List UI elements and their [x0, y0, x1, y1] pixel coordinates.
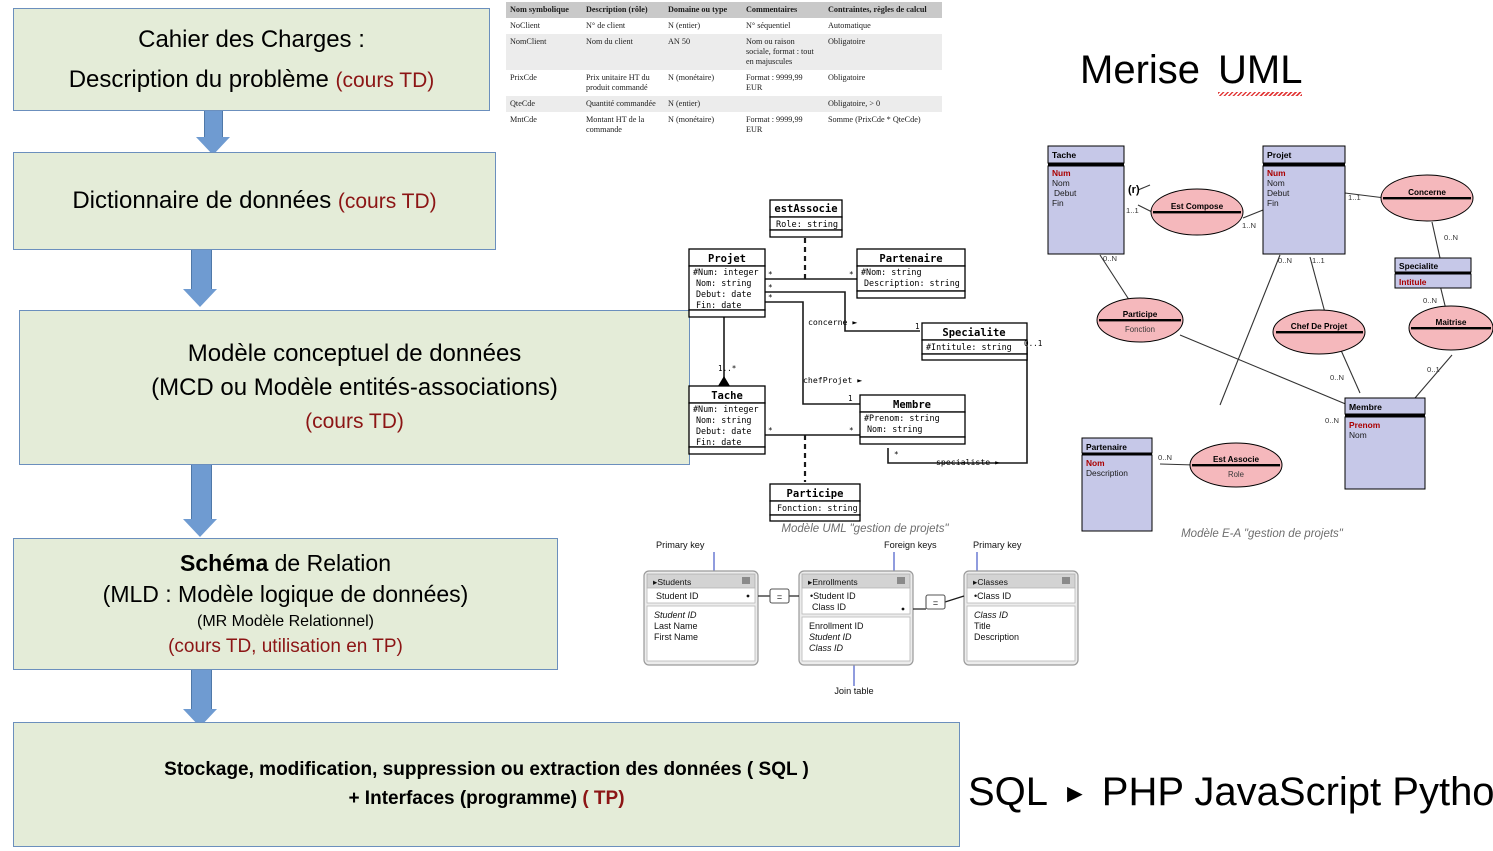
svg-text:Enrollment ID: Enrollment ID	[809, 621, 864, 631]
flow-step-line: Stockage, modification, suppression ou e…	[164, 758, 809, 782]
flow-step-line: + Interfaces (programme) ( TP)	[348, 787, 624, 811]
cell: N (monétaire)	[664, 70, 742, 96]
svg-text:Chef De Projet: Chef De Projet	[1291, 322, 1348, 331]
svg-text:Student ID: Student ID	[809, 632, 852, 642]
flow-text-accent: (cours TD)	[305, 410, 404, 433]
flow-step-schema-relation[interactable]: Schéma de Relation (MLD : Modèle logique…	[13, 538, 558, 670]
svg-text:Debut: date: Debut: date	[696, 426, 751, 436]
svg-text:estAssocie: estAssocie	[774, 203, 837, 215]
mld-table-students: ▸Students Student ID Student ID Last Nam…	[644, 571, 758, 665]
flow-step-mcd[interactable]: Modèle conceptuel de données (MCD ou Mod…	[19, 310, 690, 465]
svg-text:Title: Title	[974, 621, 991, 631]
svg-text:specialiste ►: specialiste ►	[936, 457, 1000, 467]
svg-text:=: =	[933, 598, 938, 608]
flow-step-line: Cahier des Charges :	[138, 25, 365, 55]
flow-step-line: (MLD : Modèle logique de données)	[103, 580, 469, 609]
ea-relation-maitrise: Maitrise	[1409, 306, 1493, 350]
cell: QteCde	[506, 96, 582, 112]
svg-text:#Intitule: string: #Intitule: string	[926, 342, 1012, 352]
uml-label: UML	[1218, 48, 1302, 92]
cell: Montant HT de la commande	[582, 112, 664, 138]
uml-class-participe: Participe Fonction: string	[770, 484, 860, 521]
cell: AN 50	[664, 34, 742, 70]
flow-step-line: Description du problème (cours TD)	[69, 65, 435, 95]
uml-class-projet: Projet #Num: integer Nom: string Debut: …	[689, 249, 765, 317]
cell: N (entier)	[664, 96, 742, 112]
mld-relational-diagram: Primary key Foreign keys Primary key Joi…	[636, 535, 1096, 695]
merise-uml-title: MeriseUML	[1080, 48, 1302, 93]
svg-text:Debut: Debut	[1267, 188, 1290, 198]
column-header: Domaine ou type	[664, 2, 742, 18]
cell: PrixCde	[506, 70, 582, 96]
svg-text:Est Compose: Est Compose	[1171, 202, 1224, 211]
sql-stack-title: SQL ► PHP JavaScript Python	[968, 770, 1493, 815]
svg-text:Partenaire: Partenaire	[879, 253, 942, 265]
svg-text:Class ID: Class ID	[974, 610, 1009, 620]
cell: Quantité commandée	[582, 96, 664, 112]
svg-text:Debut: date: Debut: date	[696, 289, 751, 299]
svg-text:0..N: 0..N	[1423, 296, 1437, 305]
mld-table-enrollments: ▸Enrollments •Student ID Class ID Enroll…	[799, 571, 913, 665]
svg-text:1: 1	[848, 394, 853, 403]
svg-text:Fin: Fin	[1267, 198, 1279, 208]
svg-text:Fin: date: Fin: date	[696, 300, 741, 310]
svg-text:•Class ID: •Class ID	[974, 591, 1012, 601]
svg-text:Maitrise: Maitrise	[1436, 318, 1467, 327]
svg-text:Participe: Participe	[1123, 310, 1158, 319]
flow-arrow-2	[180, 250, 222, 310]
uml-class-partenaire: Partenaire #Nom: string Description: str…	[857, 249, 965, 298]
flow-step-line: (cours TD, utilisation en TP)	[168, 635, 403, 659]
svg-text:*: *	[849, 270, 854, 279]
svg-text:Description: Description	[1086, 468, 1128, 478]
table-row: NomClient Nom du client AN 50 Nom ou rai…	[506, 34, 942, 70]
cell: NomClient	[506, 34, 582, 70]
svg-text:0..1: 0..1	[1427, 365, 1440, 374]
svg-text:#Nom: string: #Nom: string	[861, 267, 922, 277]
flow-step-line: (MR Modèle Relationnel)	[197, 612, 374, 632]
table-header-row: Nom symbolique Description (rôle) Domain…	[506, 2, 942, 18]
svg-text:*: *	[768, 426, 773, 435]
svg-text:1..1: 1..1	[1348, 193, 1361, 202]
column-header: Commentaires	[742, 2, 824, 18]
svg-text:*: *	[768, 270, 773, 279]
svg-text:0..N: 0..N	[1158, 453, 1172, 462]
uml-class-membre: Membre #Prenom: string Nom: string	[860, 395, 965, 444]
flow-step-line: Modèle conceptuel de données	[188, 339, 522, 369]
cell: Somme (PrixCde * QteCde)	[824, 112, 942, 138]
cell: Format : 9999,99 EUR	[742, 112, 824, 138]
svg-text:Prenom: Prenom	[1349, 420, 1380, 430]
mld-annotation-foreign-keys: Foreign keys	[884, 540, 937, 550]
mld-annotation-primary-key-right: Primary key	[973, 540, 1022, 550]
flow-step-line: Schéma de Relation	[180, 549, 391, 578]
svg-text:Student ID: Student ID	[654, 610, 697, 620]
flow-step-dictionnaire-donnees[interactable]: Dictionnaire de données (cours TD)	[13, 152, 496, 250]
flow-text: de Relation	[268, 550, 391, 576]
svg-text:#Prenom: string: #Prenom: string	[864, 413, 940, 423]
ea-relation-est-compose: Est Compose	[1151, 189, 1243, 235]
flow-arrow-4	[180, 670, 222, 728]
svg-text:Description: Description	[974, 632, 1019, 642]
mld-join-marker-right: =	[926, 595, 945, 609]
svg-text:Fonction: string: Fonction: string	[777, 503, 858, 513]
cell: Obligatoire	[824, 34, 942, 70]
svg-text:1..*: 1..*	[718, 364, 736, 373]
svg-text:▸Classes: ▸Classes	[973, 577, 1008, 587]
flow-text-strong: Stockage, modification, suppression ou e…	[164, 759, 809, 780]
cell: Automatique	[824, 18, 942, 34]
flow-text: (MCD ou Modèle entités-associations)	[151, 374, 558, 401]
ea-relation-concerne: Concerne	[1381, 175, 1473, 221]
flow-text: Description du problème	[69, 66, 336, 93]
svg-text:Nom: string: Nom: string	[696, 415, 751, 425]
ea-entity-tache: Tache Num Nom Debut Fin	[1048, 146, 1124, 254]
svg-text:Role: string: Role: string	[776, 220, 838, 230]
svg-text:Tache: Tache	[1052, 150, 1076, 160]
ea-merise-diagram: Tache Num Nom Debut Fin (r) 1..1 0..N Es…	[1040, 140, 1493, 545]
uml-class-tache: Tache #Num: integer Nom: string Debut: d…	[689, 386, 765, 454]
ea-relation-est-associe: Est Associe Role	[1190, 443, 1282, 487]
column-header: Nom symbolique	[506, 2, 582, 18]
svg-text:•Student ID: •Student ID	[810, 591, 856, 601]
svg-text:*: *	[894, 450, 899, 459]
flow-step-line: (cours TD)	[305, 409, 404, 435]
flow-step-line: Dictionnaire de données (cours TD)	[72, 186, 436, 216]
uml-caption: Modèle UML "gestion de projets"	[781, 523, 949, 535]
sql-label: SQL	[968, 770, 1048, 815]
table-row: MntCde Montant HT de la commande N (moné…	[506, 112, 942, 138]
svg-text:1: 1	[915, 322, 920, 331]
ea-relation-chef-de-projet: Chef De Projet	[1273, 310, 1365, 354]
flow-text-accent: (cours TD)	[336, 69, 435, 92]
flow-text-accent: ( TP)	[582, 788, 624, 809]
ea-relation-participe: Participe Fonction	[1097, 298, 1183, 342]
ea-entity-partenaire: Partenaire Nom Description	[1082, 438, 1152, 531]
flow-text-strong: Schéma	[180, 550, 268, 576]
svg-text:Fonction: Fonction	[1125, 325, 1155, 334]
flow-step-stockage-sql[interactable]: Stockage, modification, suppression ou e…	[13, 722, 960, 847]
flow-arrow-1	[193, 111, 233, 155]
svg-text:Nom: Nom	[1052, 178, 1070, 188]
flow-step-line: (MCD ou Modèle entités-associations)	[151, 373, 558, 403]
svg-text:Projet: Projet	[1267, 150, 1291, 160]
svg-text:1..1: 1..1	[1126, 206, 1139, 215]
svg-text:First Name: First Name	[654, 632, 698, 642]
svg-text:Num: Num	[1267, 168, 1286, 178]
svg-text:0..N: 0..N	[1444, 233, 1458, 242]
svg-text:Nom: Nom	[1349, 430, 1367, 440]
svg-text:Num: Num	[1052, 168, 1071, 178]
svg-text:Nom: Nom	[1267, 178, 1285, 188]
data-dictionary-table: Nom symbolique Description (rôle) Domain…	[506, 2, 942, 138]
table-row: NoClient N° de client N (entier) N° séqu…	[506, 18, 942, 34]
flow-arrow-3	[180, 465, 222, 539]
svg-text:Participe: Participe	[787, 488, 844, 500]
svg-text:Membre: Membre	[1349, 402, 1382, 412]
svg-text:0..N: 0..N	[1278, 256, 1292, 265]
languages-label: PHP JavaScript Python	[1102, 770, 1493, 815]
flow-text: Modèle conceptuel de données	[188, 340, 522, 367]
flow-text-strong: + Interfaces (programme)	[348, 788, 582, 809]
cell: N° séquentiel	[742, 18, 824, 34]
uml-class-diagram: estAssocie Role: string Projet #Num: int…	[660, 195, 1080, 540]
cell: N° de client	[582, 18, 664, 34]
merise-label: Merise	[1080, 48, 1200, 92]
flow-text-accent: (cours TD, utilisation en TP)	[168, 636, 403, 657]
flow-text: (MLD : Modèle logique de données)	[103, 581, 469, 607]
svg-text:Specialite: Specialite	[942, 327, 1005, 339]
svg-text:Nom: Nom	[1086, 458, 1105, 468]
table-row: PrixCde Prix unitaire HT du produit comm…	[506, 70, 942, 96]
svg-text:Projet: Projet	[708, 253, 746, 265]
flow-text: Dictionnaire de données	[72, 187, 338, 214]
cell: Nom ou raison sociale, format : tout en …	[742, 34, 824, 70]
flow-text-accent: (cours TD)	[338, 190, 437, 213]
svg-text:Nom: string: Nom: string	[867, 424, 922, 434]
flow-text: (MR Modèle Relationnel)	[197, 613, 374, 630]
svg-text:0..N: 0..N	[1103, 254, 1117, 263]
svg-text:1..N: 1..N	[1242, 221, 1256, 230]
svg-text:*: *	[768, 293, 773, 302]
cell: Obligatoire, > 0	[824, 96, 942, 112]
cell: Obligatoire	[824, 70, 942, 96]
svg-text:Student ID: Student ID	[656, 591, 699, 601]
mld-annotation-primary-key-left: Primary key	[656, 540, 705, 550]
svg-text:Est Associe: Est Associe	[1213, 455, 1260, 464]
svg-text:Fin: Fin	[1052, 198, 1064, 208]
svg-text:Debut: Debut	[1054, 188, 1077, 198]
svg-text:Description: string: Description: string	[864, 278, 960, 288]
cell: Prix unitaire HT du produit commandé	[582, 70, 664, 96]
cell: NoClient	[506, 18, 582, 34]
svg-text:chefProjet ►: chefProjet ►	[803, 375, 862, 385]
mld-table-classes: ▸Classes •Class ID Class ID Title Descri…	[964, 571, 1078, 665]
cell: N (entier)	[664, 18, 742, 34]
svg-text:▸Enrollments: ▸Enrollments	[808, 577, 858, 587]
cell: Nom du client	[582, 34, 664, 70]
svg-text:Partenaire: Partenaire	[1086, 442, 1127, 452]
svg-text:Membre: Membre	[893, 399, 931, 411]
ea-reflexive-marker: (r)	[1128, 184, 1140, 196]
svg-text:1..1: 1..1	[1312, 256, 1325, 265]
ea-entity-membre: Membre Prenom Nom	[1345, 398, 1425, 489]
cell: N (monétaire)	[664, 112, 742, 138]
mld-join-marker-left: =	[770, 589, 789, 603]
cell: MntCde	[506, 112, 582, 138]
uml-class-estassocie: estAssocie Role: string	[770, 200, 842, 237]
svg-text:Intitule: Intitule	[1399, 277, 1427, 287]
svg-text:0..N: 0..N	[1330, 373, 1344, 382]
svg-text:Last Name: Last Name	[654, 621, 698, 631]
svg-text:Class ID: Class ID	[809, 643, 844, 653]
cell	[742, 96, 824, 112]
svg-text:Class ID: Class ID	[812, 602, 847, 612]
svg-text:#Num: integer: #Num: integer	[693, 404, 759, 414]
svg-text:Specialite: Specialite	[1399, 261, 1438, 271]
ea-entity-specialite: Specialite Intitule	[1395, 258, 1471, 288]
svg-text:*: *	[849, 426, 854, 435]
mld-annotation-join-table: Join table	[834, 686, 873, 695]
ea-caption: Modèle E-A "gestion de projets"	[1181, 528, 1344, 540]
flow-step-cahier-des-charges[interactable]: Cahier des Charges : Description du prob…	[13, 8, 490, 111]
cell: Format : 9999,99 EUR	[742, 70, 824, 96]
svg-text:=: =	[777, 592, 782, 602]
arrow-right-icon: ►	[1062, 780, 1088, 806]
table-row: QteCde Quantité commandée N (entier) Obl…	[506, 96, 942, 112]
svg-text:concerne ►: concerne ►	[808, 317, 857, 327]
flow-text: Cahier des Charges :	[138, 26, 365, 53]
column-header: Contraintes, règles de calcul	[824, 2, 942, 18]
svg-text:0..N: 0..N	[1325, 416, 1339, 425]
svg-text:▸Students: ▸Students	[653, 577, 691, 587]
svg-text:Tache: Tache	[711, 390, 743, 402]
svg-text:Role: Role	[1228, 470, 1244, 479]
svg-text:Nom: string: Nom: string	[696, 278, 751, 288]
svg-text:Concerne: Concerne	[1408, 188, 1446, 197]
svg-text:Fin: date: Fin: date	[696, 437, 741, 447]
column-header: Description (rôle)	[582, 2, 664, 18]
uml-class-specialite: Specialite #Intitule: string	[922, 323, 1027, 360]
svg-text:#Num: integer: #Num: integer	[693, 267, 759, 277]
ea-entity-projet: Projet Num Nom Debut Fin	[1263, 146, 1345, 254]
svg-text:*: *	[768, 283, 773, 292]
